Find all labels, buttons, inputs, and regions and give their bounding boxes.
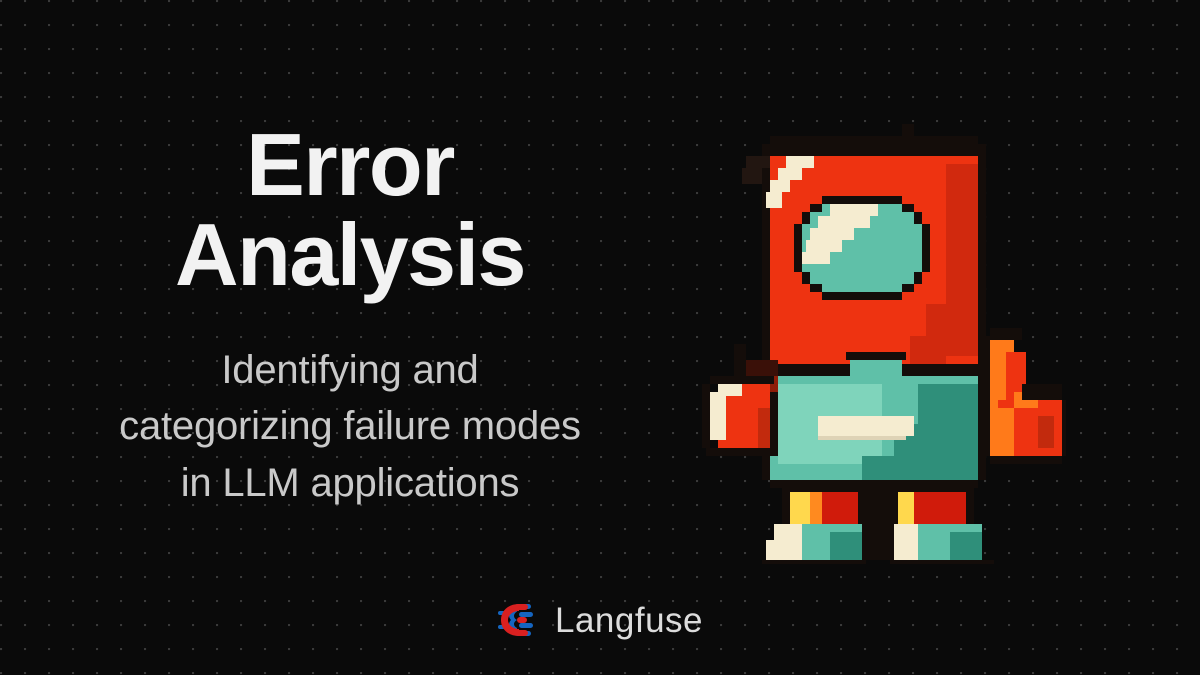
pixel-art-robot-illustration xyxy=(686,112,1066,564)
page-title: Error Analysis xyxy=(175,120,525,300)
brand-lockup: Langfuse xyxy=(0,600,1200,640)
text-column: Error Analysis Identifying and categoriz… xyxy=(0,120,700,512)
page-subtitle: Identifying and categorizing failure mod… xyxy=(119,342,581,512)
brand-name-label: Langfuse xyxy=(555,603,703,638)
langfuse-logo-icon xyxy=(497,600,539,640)
slide-canvas: Error Analysis Identifying and categoriz… xyxy=(0,0,1200,675)
